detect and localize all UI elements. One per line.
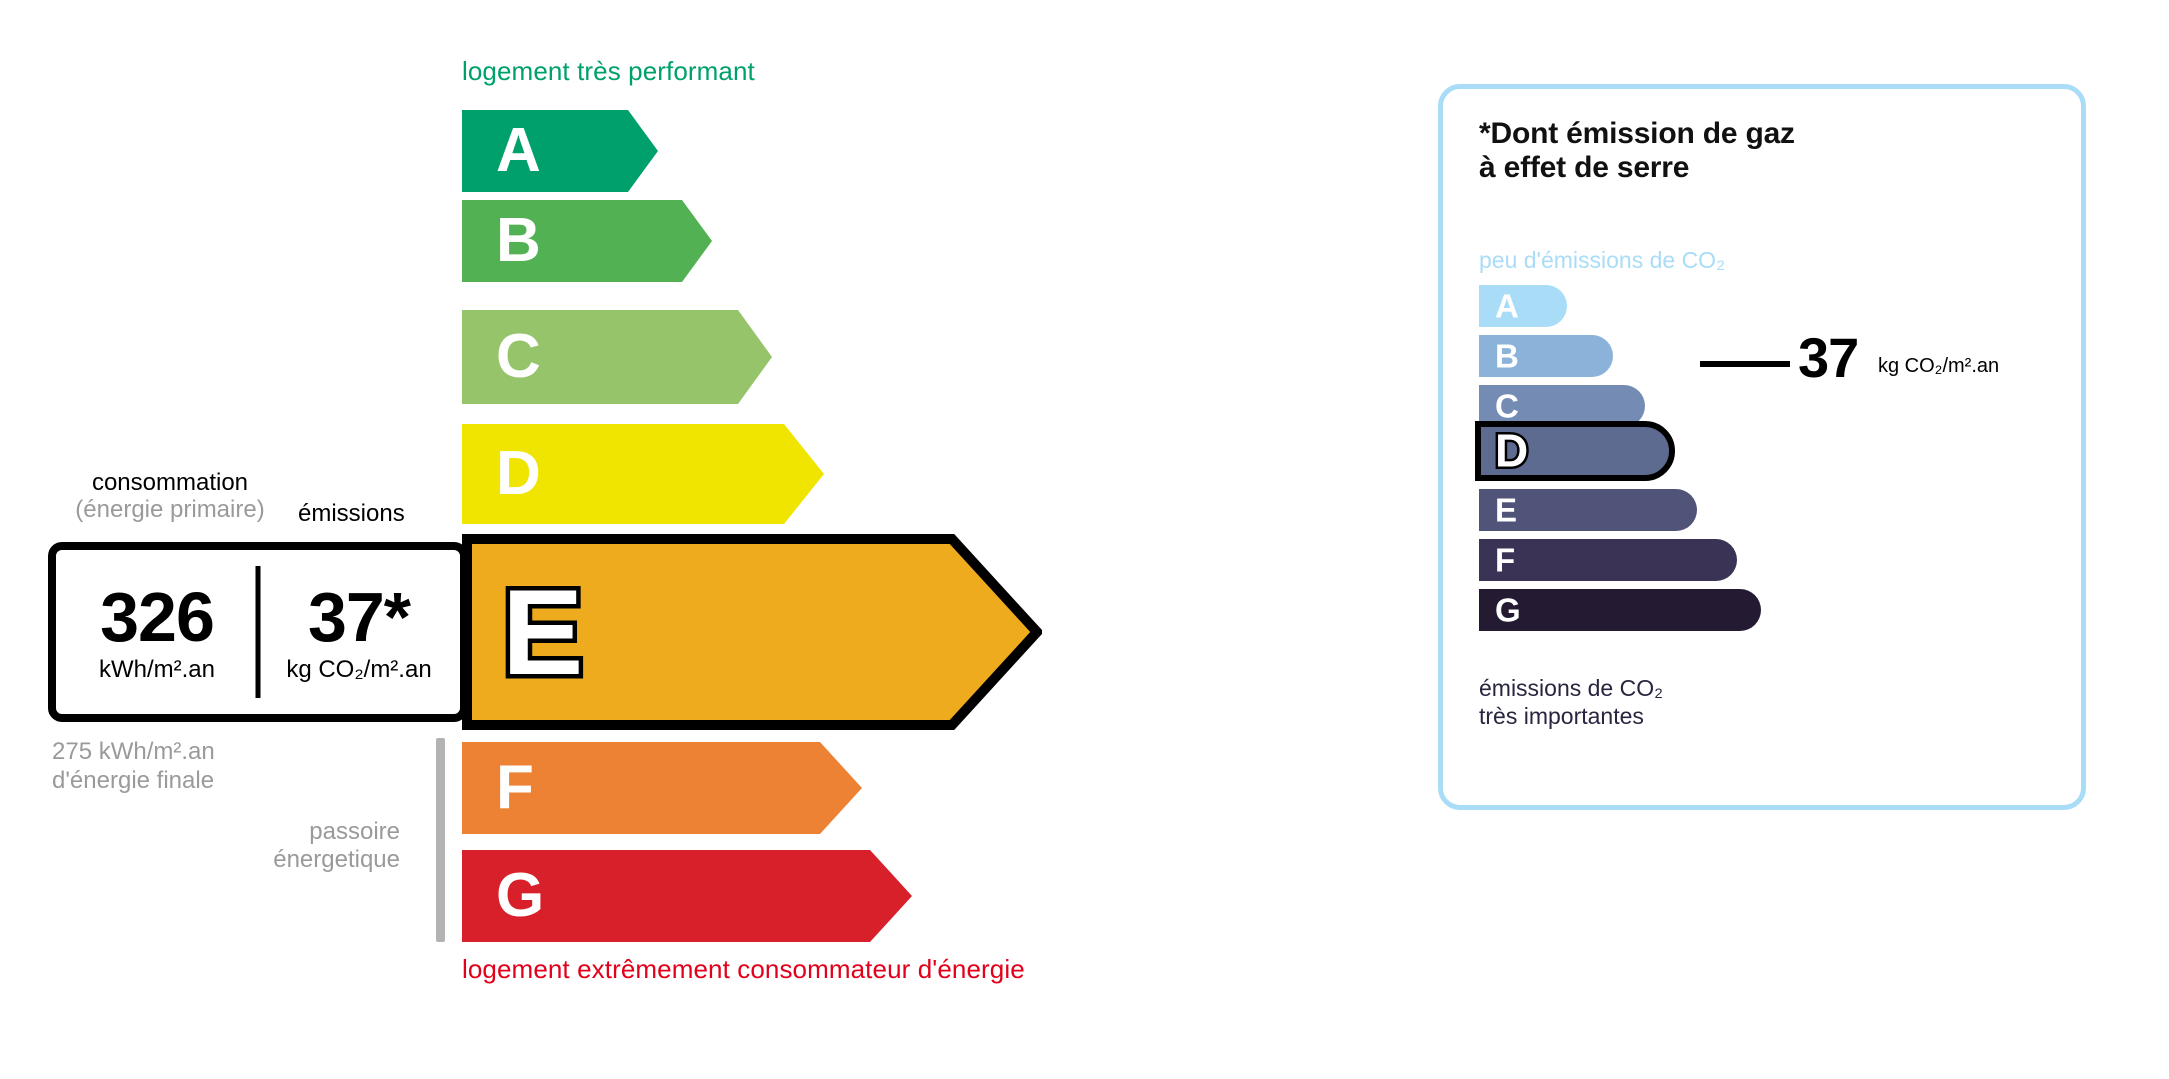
energy-class-row-b[interactable]: B: [462, 200, 712, 282]
co2-class-row-f[interactable]: F: [1479, 539, 1737, 581]
emission-value: 37*: [308, 582, 410, 652]
co2-bar-d: D: [1475, 421, 1675, 481]
energy-arrow-label-c: C: [496, 326, 541, 388]
energy-class-row-f[interactable]: F: [462, 742, 862, 834]
energy-top-caption: logement très performant: [462, 56, 755, 87]
emission-unit: kg CO₂/m².an: [286, 658, 431, 682]
final-energy-line1: 275 kWh/m².an: [52, 738, 215, 767]
energy-arrow-d: D: [462, 424, 824, 524]
energy-performance-scale: logement très performant A B C D E: [0, 0, 1290, 1079]
co2-class-row-d-selected[interactable]: D: [1475, 421, 1675, 481]
co2-value-leader-line: [1700, 361, 1790, 367]
co2-emissions-panel: *Dont émission de gaz à effet de serre p…: [1438, 84, 2086, 810]
co2-bar-label-g: G: [1495, 594, 1521, 627]
energy-class-row-d[interactable]: D: [462, 424, 824, 524]
co2-bar-label-d: D: [1495, 430, 1528, 471]
co2-value-unit: kg CO₂/m².an: [1878, 355, 1999, 378]
energy-value-box: 326 kWh/m².an 37* kg CO₂/m².an: [48, 542, 468, 722]
primary-energy-unit: kWh/m².an: [99, 658, 215, 682]
co2-bar-g: G: [1479, 589, 1761, 631]
co2-value: 37: [1798, 330, 1858, 386]
co2-bar-label-e: E: [1495, 494, 1517, 527]
co2-top-caption: peu d'émissions de CO₂: [1479, 247, 1725, 274]
passoire-energetique-bracket: [436, 738, 445, 942]
co2-panel-title: *Dont émission de gaz à effet de serre: [1479, 117, 1795, 184]
passoire-energetique-label: passoire énergetique: [170, 818, 400, 875]
consumption-header: consommation (énergie primaire): [60, 470, 280, 524]
emissions-header: émissions: [298, 501, 405, 528]
co2-bar-label-a: A: [1495, 290, 1519, 323]
co2-bar-label-b: B: [1495, 340, 1519, 373]
emission-value-cell: 37* kg CO₂/m².an: [258, 550, 460, 714]
final-energy-note: 275 kWh/m².an d'énergie finale: [52, 738, 215, 796]
co2-class-row-g[interactable]: G: [1479, 589, 1761, 631]
co2-bottom-caption-line1: émissions de CO₂: [1479, 675, 1663, 703]
co2-bar-f: F: [1479, 539, 1737, 581]
energy-arrow-label-a: A: [496, 120, 541, 182]
energy-arrow-label-g: G: [496, 865, 544, 927]
energy-arrow-b: B: [462, 200, 712, 282]
passoire-line2: énergetique: [170, 846, 400, 874]
energy-class-row-a[interactable]: A: [462, 110, 658, 192]
energy-bottom-caption: logement extrêmement consommateur d'éner…: [462, 954, 1025, 985]
co2-bar-a: A: [1479, 285, 1567, 327]
energy-class-row-e-selected[interactable]: E: [462, 534, 1042, 730]
primary-energy-value: 326: [100, 582, 214, 652]
co2-bar-label-f: F: [1495, 544, 1515, 577]
energy-class-row-g[interactable]: G: [462, 850, 912, 942]
co2-class-row-b[interactable]: B: [1479, 335, 1613, 377]
consumption-header-line2: (énergie primaire): [60, 497, 280, 524]
co2-title-line2: à effet de serre: [1479, 151, 1795, 185]
final-energy-line2: d'énergie finale: [52, 767, 215, 796]
energy-arrow-g: G: [462, 850, 912, 942]
primary-energy-value-cell: 326 kWh/m².an: [56, 550, 258, 714]
co2-bottom-caption: émissions de CO₂ très importantes: [1479, 675, 1663, 730]
energy-arrow-label-b: B: [496, 210, 541, 272]
energy-arrow-c: C: [462, 310, 772, 404]
energy-arrow-label-f: F: [496, 757, 534, 819]
energy-class-row-c[interactable]: C: [462, 310, 772, 404]
energy-arrow-f: F: [462, 742, 862, 834]
co2-class-row-a[interactable]: A: [1479, 285, 1567, 327]
passoire-line1: passoire: [170, 818, 400, 846]
co2-class-row-e[interactable]: E: [1479, 489, 1697, 531]
consumption-header-line1: consommation: [60, 470, 280, 497]
co2-title-line1: *Dont émission de gaz: [1479, 117, 1795, 151]
co2-bottom-caption-line2: très importantes: [1479, 703, 1663, 731]
energy-arrow-a: A: [462, 110, 658, 192]
co2-bar-label-c: C: [1495, 390, 1519, 423]
co2-bar-b: B: [1479, 335, 1613, 377]
energy-arrow-label-e: E: [502, 581, 583, 683]
co2-bar-e: E: [1479, 489, 1697, 531]
energy-arrow-label-d: D: [496, 443, 541, 505]
